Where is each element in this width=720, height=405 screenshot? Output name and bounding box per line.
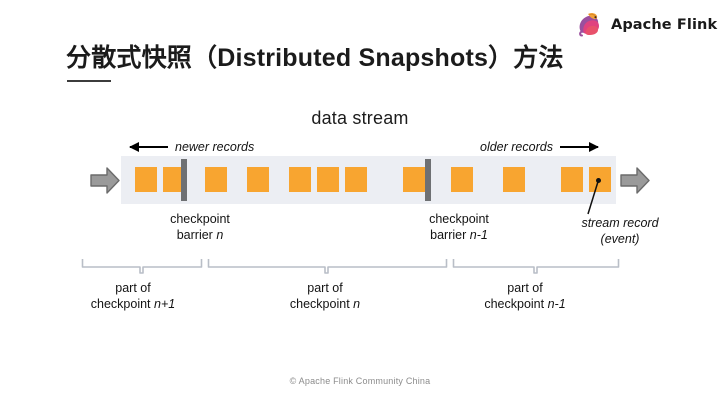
segment-label-checkpoint-n-minus-1: part of checkpoint n-1 bbox=[440, 280, 610, 313]
p3-line2: checkpoint bbox=[484, 297, 547, 311]
barrier-n1-line2: barrier bbox=[430, 228, 470, 242]
brand-name: Apache Flink bbox=[611, 17, 717, 33]
slide-root: Apache Flink 分散式快照（Distributed Snapshots… bbox=[0, 0, 720, 405]
flink-squirrel-icon bbox=[575, 10, 605, 40]
stream-record bbox=[289, 167, 311, 192]
stream-record-callout-label: stream record (event) bbox=[560, 216, 680, 247]
stream-record bbox=[345, 167, 367, 192]
brace-checkpoint-n bbox=[207, 258, 448, 274]
slide-footer: © Apache Flink Community China bbox=[0, 376, 720, 386]
flow-arrow-in-icon bbox=[90, 166, 120, 195]
brand-logo-group: Apache Flink bbox=[575, 10, 717, 40]
p2-line1: part of bbox=[307, 281, 342, 295]
brace-checkpoint-n-plus-1 bbox=[81, 258, 203, 274]
p1-line2: checkpoint bbox=[91, 297, 154, 311]
segment-label-checkpoint-n-plus-1: part of checkpoint n+1 bbox=[58, 280, 208, 313]
stream-record bbox=[135, 167, 157, 192]
arrow-left-icon bbox=[130, 146, 168, 148]
older-records-indicator: older records bbox=[480, 138, 598, 156]
barrier-n1-line1: checkpoint bbox=[429, 212, 489, 226]
p2-index: n bbox=[353, 297, 360, 311]
checkpoint-barrier-n-minus-1-label: checkpoint barrier n-1 bbox=[396, 212, 522, 243]
p1-line1: part of bbox=[115, 281, 150, 295]
page-title: 分散式快照（Distributed Snapshots）方法 bbox=[66, 38, 564, 74]
p3-index: n-1 bbox=[548, 297, 566, 311]
stream-record bbox=[317, 167, 339, 192]
stream-record bbox=[247, 167, 269, 192]
title-underline-rule bbox=[67, 80, 111, 82]
barrier-n1-index: n-1 bbox=[470, 228, 488, 242]
p3-line1: part of bbox=[507, 281, 542, 295]
p1-index: n+1 bbox=[154, 297, 175, 311]
newer-records-indicator: newer records bbox=[130, 138, 254, 156]
callout-dot-icon bbox=[596, 178, 601, 183]
stream-record-line2: (event) bbox=[601, 232, 640, 246]
older-records-label: older records bbox=[480, 140, 553, 154]
stream-record bbox=[403, 167, 425, 192]
barrier-n-index: n bbox=[216, 228, 223, 242]
stream-checkpoint-diagram: data stream newer records older records bbox=[0, 108, 720, 338]
checkpoint-barrier-n-minus-1 bbox=[425, 159, 431, 201]
data-stream-bar bbox=[121, 156, 616, 204]
arrow-right-icon bbox=[560, 146, 598, 148]
barrier-n-line1: checkpoint bbox=[170, 212, 230, 226]
stream-record bbox=[451, 167, 473, 192]
data-stream-title: data stream bbox=[0, 108, 720, 129]
checkpoint-barrier-n-label: checkpoint barrier n bbox=[142, 212, 258, 243]
stream-record bbox=[205, 167, 227, 192]
barrier-n-line2: barrier bbox=[177, 228, 217, 242]
checkpoint-barrier-n bbox=[181, 159, 187, 201]
stream-record bbox=[503, 167, 525, 192]
newer-records-label: newer records bbox=[175, 140, 254, 154]
stream-record-line1: stream record bbox=[581, 216, 658, 230]
brace-checkpoint-n-minus-1 bbox=[452, 258, 620, 274]
p2-line2: checkpoint bbox=[290, 297, 353, 311]
segment-label-checkpoint-n: part of checkpoint n bbox=[240, 280, 410, 313]
flow-arrow-out-icon bbox=[620, 166, 650, 195]
